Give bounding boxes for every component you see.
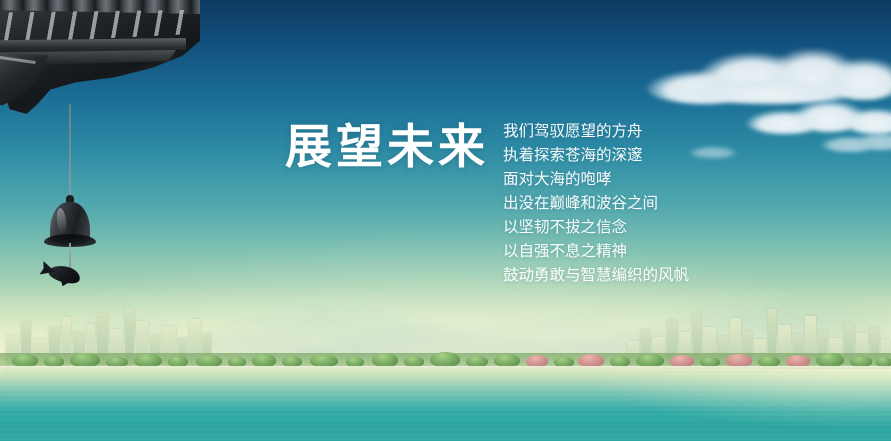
shoreline-trees — [0, 345, 891, 367]
temple-eave-icon — [0, 0, 200, 114]
poem-line: 面对大海的咆哮 — [503, 172, 713, 188]
poem-line: 鼓动勇敢与智慧编织的风帆 — [503, 268, 713, 284]
cloud-icon — [820, 130, 891, 154]
banner-title: 展望未来 — [285, 123, 489, 170]
banner-poem: 我们驾驭愿望的方舟 执着探索苍海的深邃 面对大海的咆哮 出没在巅峰和波谷之间 以… — [503, 124, 713, 292]
poem-line: 以坚韧不拔之信念 — [503, 220, 713, 236]
future-outlook-banner: 展望未来 我们驾驭愿望的方舟 执着探索苍海的深邃 面对大海的咆哮 出没在巅峰和波… — [0, 0, 891, 441]
poem-line: 出没在巅峰和波谷之间 — [503, 196, 713, 212]
poem-line: 以自强不息之精神 — [503, 244, 713, 260]
poem-line: 我们驾驭愿望的方舟 — [503, 124, 713, 140]
poem-line: 执着探索苍海的深邃 — [503, 148, 713, 164]
bell-hanging-wire — [69, 104, 71, 204]
water-ripples — [0, 369, 891, 441]
